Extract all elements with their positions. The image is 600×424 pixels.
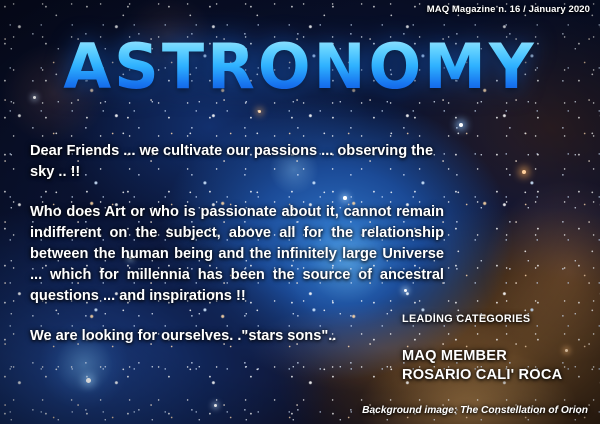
background-image-caption: Background image: The Constellation of O…	[362, 405, 588, 416]
editorial-body: Dear Friends ... we cultivate our passio…	[30, 141, 444, 347]
poster-content: MAQ Magazine n. 16 / January 2020 ASTRON…	[0, 0, 600, 424]
paragraph-main: Who does Art or who is passionate about …	[30, 202, 444, 307]
maq-member-name: ROSARIO CALI' ROCA	[402, 366, 562, 385]
leading-categories-block: LEADING CATEGORIES MAQ MEMBER ROSARIO CA…	[402, 313, 562, 385]
astronomy-poster: MAQ Magazine n. 16 / January 2020 ASTRON…	[0, 0, 600, 424]
paragraph-closing: We are looking for ourselves. ."stars so…	[30, 326, 444, 347]
paragraph-greeting: Dear Friends ... we cultivate our passio…	[30, 141, 444, 183]
page-title: ASTRONOMY	[0, 36, 600, 98]
maq-member-role: MAQ MEMBER	[402, 347, 562, 366]
magazine-masthead: MAQ Magazine n. 16 / January 2020	[427, 4, 590, 15]
leading-categories-heading: LEADING CATEGORIES	[402, 313, 562, 325]
